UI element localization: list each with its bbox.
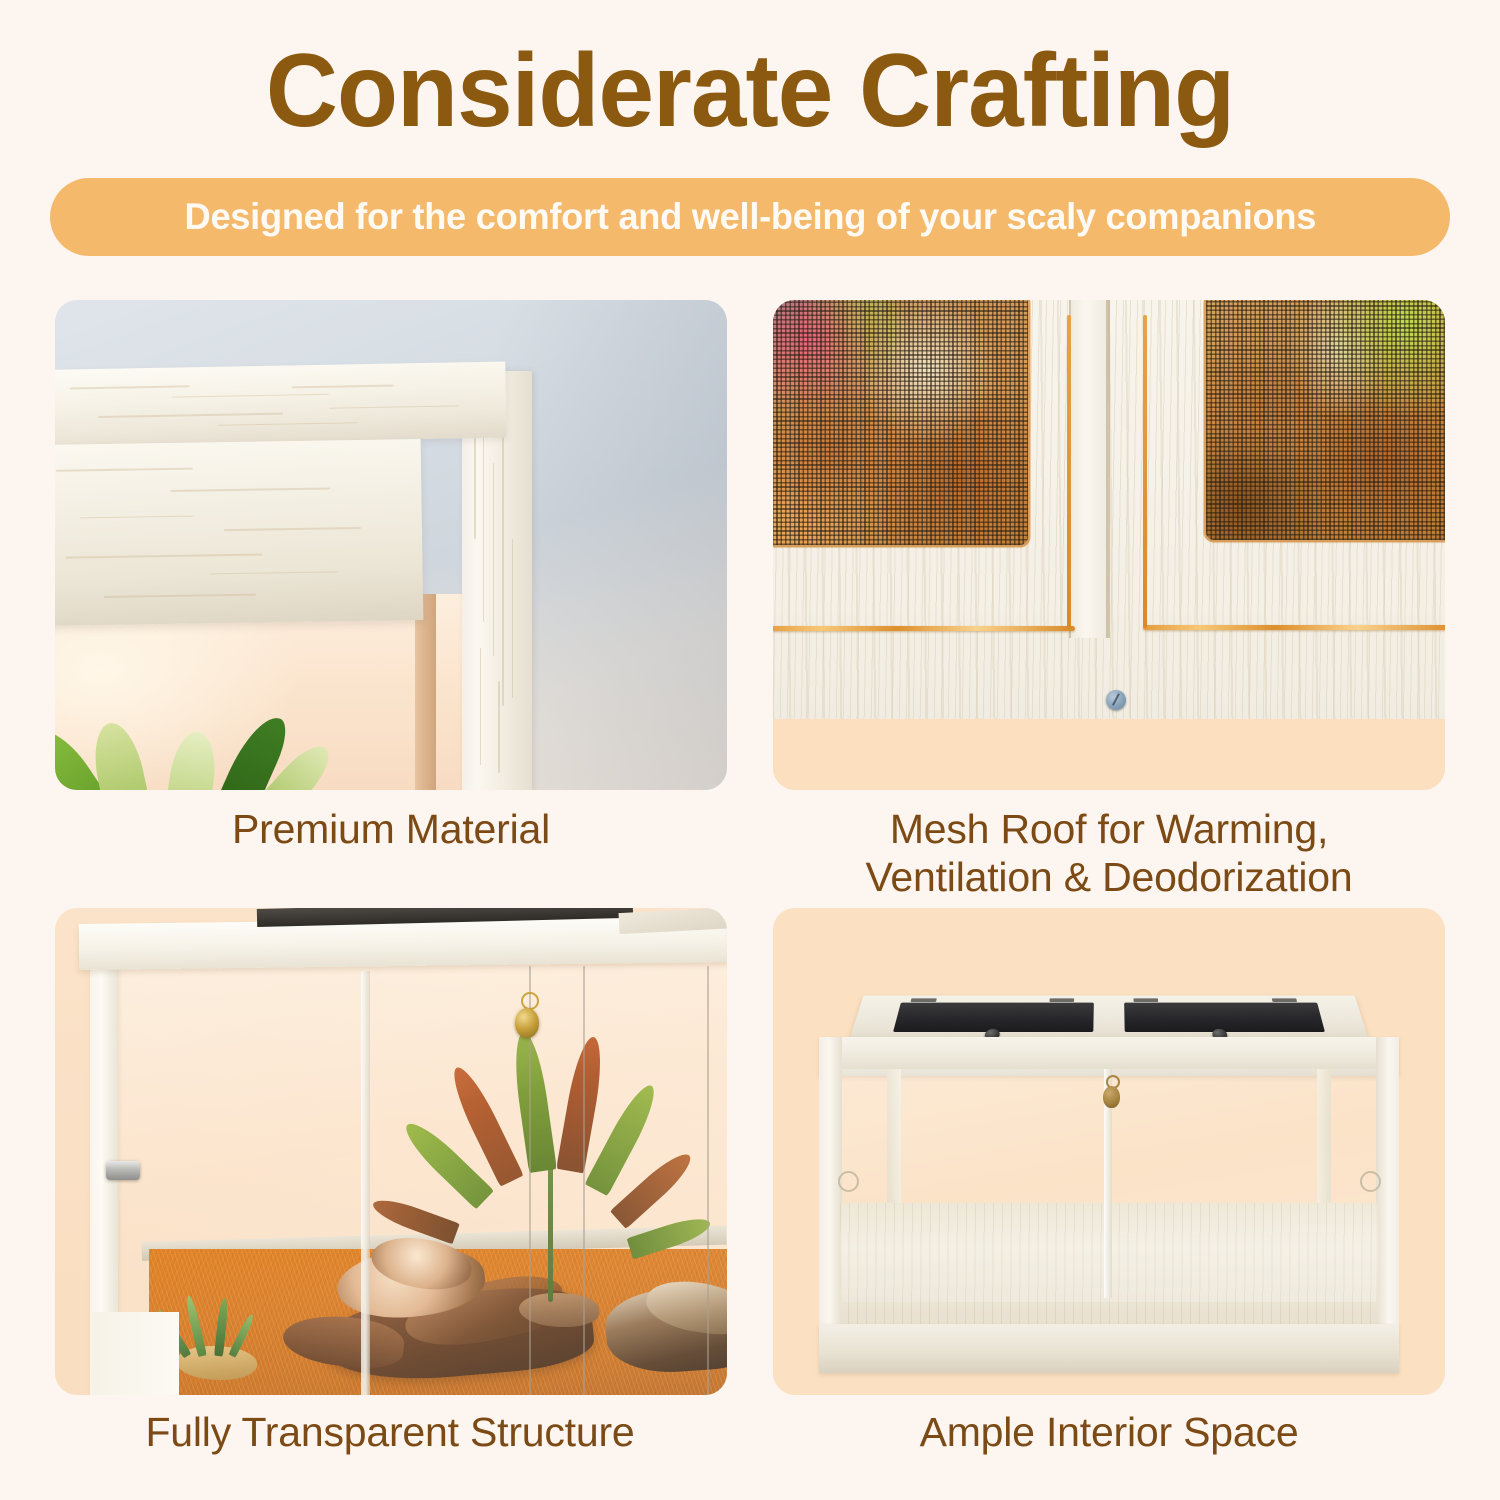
feature-caption-ample-interior-space: Ample Interior Space (773, 1408, 1445, 1456)
feature-caption-mesh-roof: Mesh Roof for Warming, Ventilation & Deo… (753, 805, 1465, 901)
feature-caption-fully-transparent-structure: Fully Transparent Structure (40, 1408, 740, 1456)
bottom-left-frame (92, 1312, 179, 1395)
roof-hinge (1272, 998, 1297, 1001)
screw-icon (1106, 690, 1126, 710)
roof-hinge (911, 998, 937, 1001)
base-board (819, 1324, 1400, 1373)
subtitle-banner: Designed for the comfort and well-being … (50, 178, 1450, 256)
amber-trim-right (1143, 625, 1445, 630)
feature-grid: Premium Material (0, 300, 1500, 1500)
door-handle-knob[interactable] (106, 1161, 140, 1180)
premium-material-image (55, 300, 727, 790)
roof-mesh-pane-left (893, 1002, 1094, 1032)
feature-caption-premium-material: Premium Material (55, 805, 727, 853)
page-title: Considerate Crafting (30, 0, 1470, 166)
latch-ring-icon[interactable] (521, 992, 539, 1010)
glass-edge-line (583, 966, 585, 1395)
wood-divider (1071, 300, 1109, 638)
feature-photo-fully-transparent-structure (55, 908, 727, 1395)
caption-line-1: Mesh Roof for Warming, (753, 805, 1465, 853)
mesh-screen-panel-left (773, 300, 1028, 545)
glass-edge-line (707, 966, 709, 1395)
subtitle-text: Designed for the comfort and well-being … (184, 196, 1316, 238)
side-vent-hole-right (1360, 1171, 1381, 1192)
mesh-roof-image (773, 300, 1445, 790)
ample-interior-image (773, 908, 1445, 1395)
top-wood-beam (55, 362, 506, 446)
glass-panel (115, 966, 727, 1395)
roof-mesh-pane-right (1124, 1002, 1325, 1032)
roof-hinge (1050, 998, 1075, 1001)
mesh-screen-panel-right (1206, 300, 1445, 540)
amber-trim-left (773, 626, 1075, 631)
mesh-grid-overlay (1206, 300, 1445, 540)
peach-band (773, 719, 1445, 790)
caption-line-2: Ventilation & Deodorization (753, 853, 1465, 901)
feature-photo-ample-interior-space (773, 908, 1445, 1395)
feature-photo-premium-material (55, 300, 727, 790)
header: Considerate Crafting Designed for the co… (0, 0, 1500, 256)
door-latch-lock-icon[interactable] (515, 1008, 539, 1038)
feature-photo-mesh-roof (773, 300, 1445, 790)
transparent-structure-image (55, 908, 727, 1395)
door-latch-lock-icon[interactable] (1103, 1086, 1120, 1108)
front-wood-board (55, 439, 423, 626)
wall-shadow (499, 300, 727, 790)
door-mullion (361, 971, 370, 1395)
amber-trim-vertical-right (1143, 315, 1147, 629)
inner-wood-post (415, 594, 437, 790)
amber-trim-vertical-left (1067, 315, 1071, 629)
side-vent-hole-left (838, 1171, 859, 1192)
mesh-grid-overlay (773, 300, 1028, 545)
panel-gap-right (1106, 300, 1110, 638)
roof-hinge (1134, 998, 1159, 1001)
